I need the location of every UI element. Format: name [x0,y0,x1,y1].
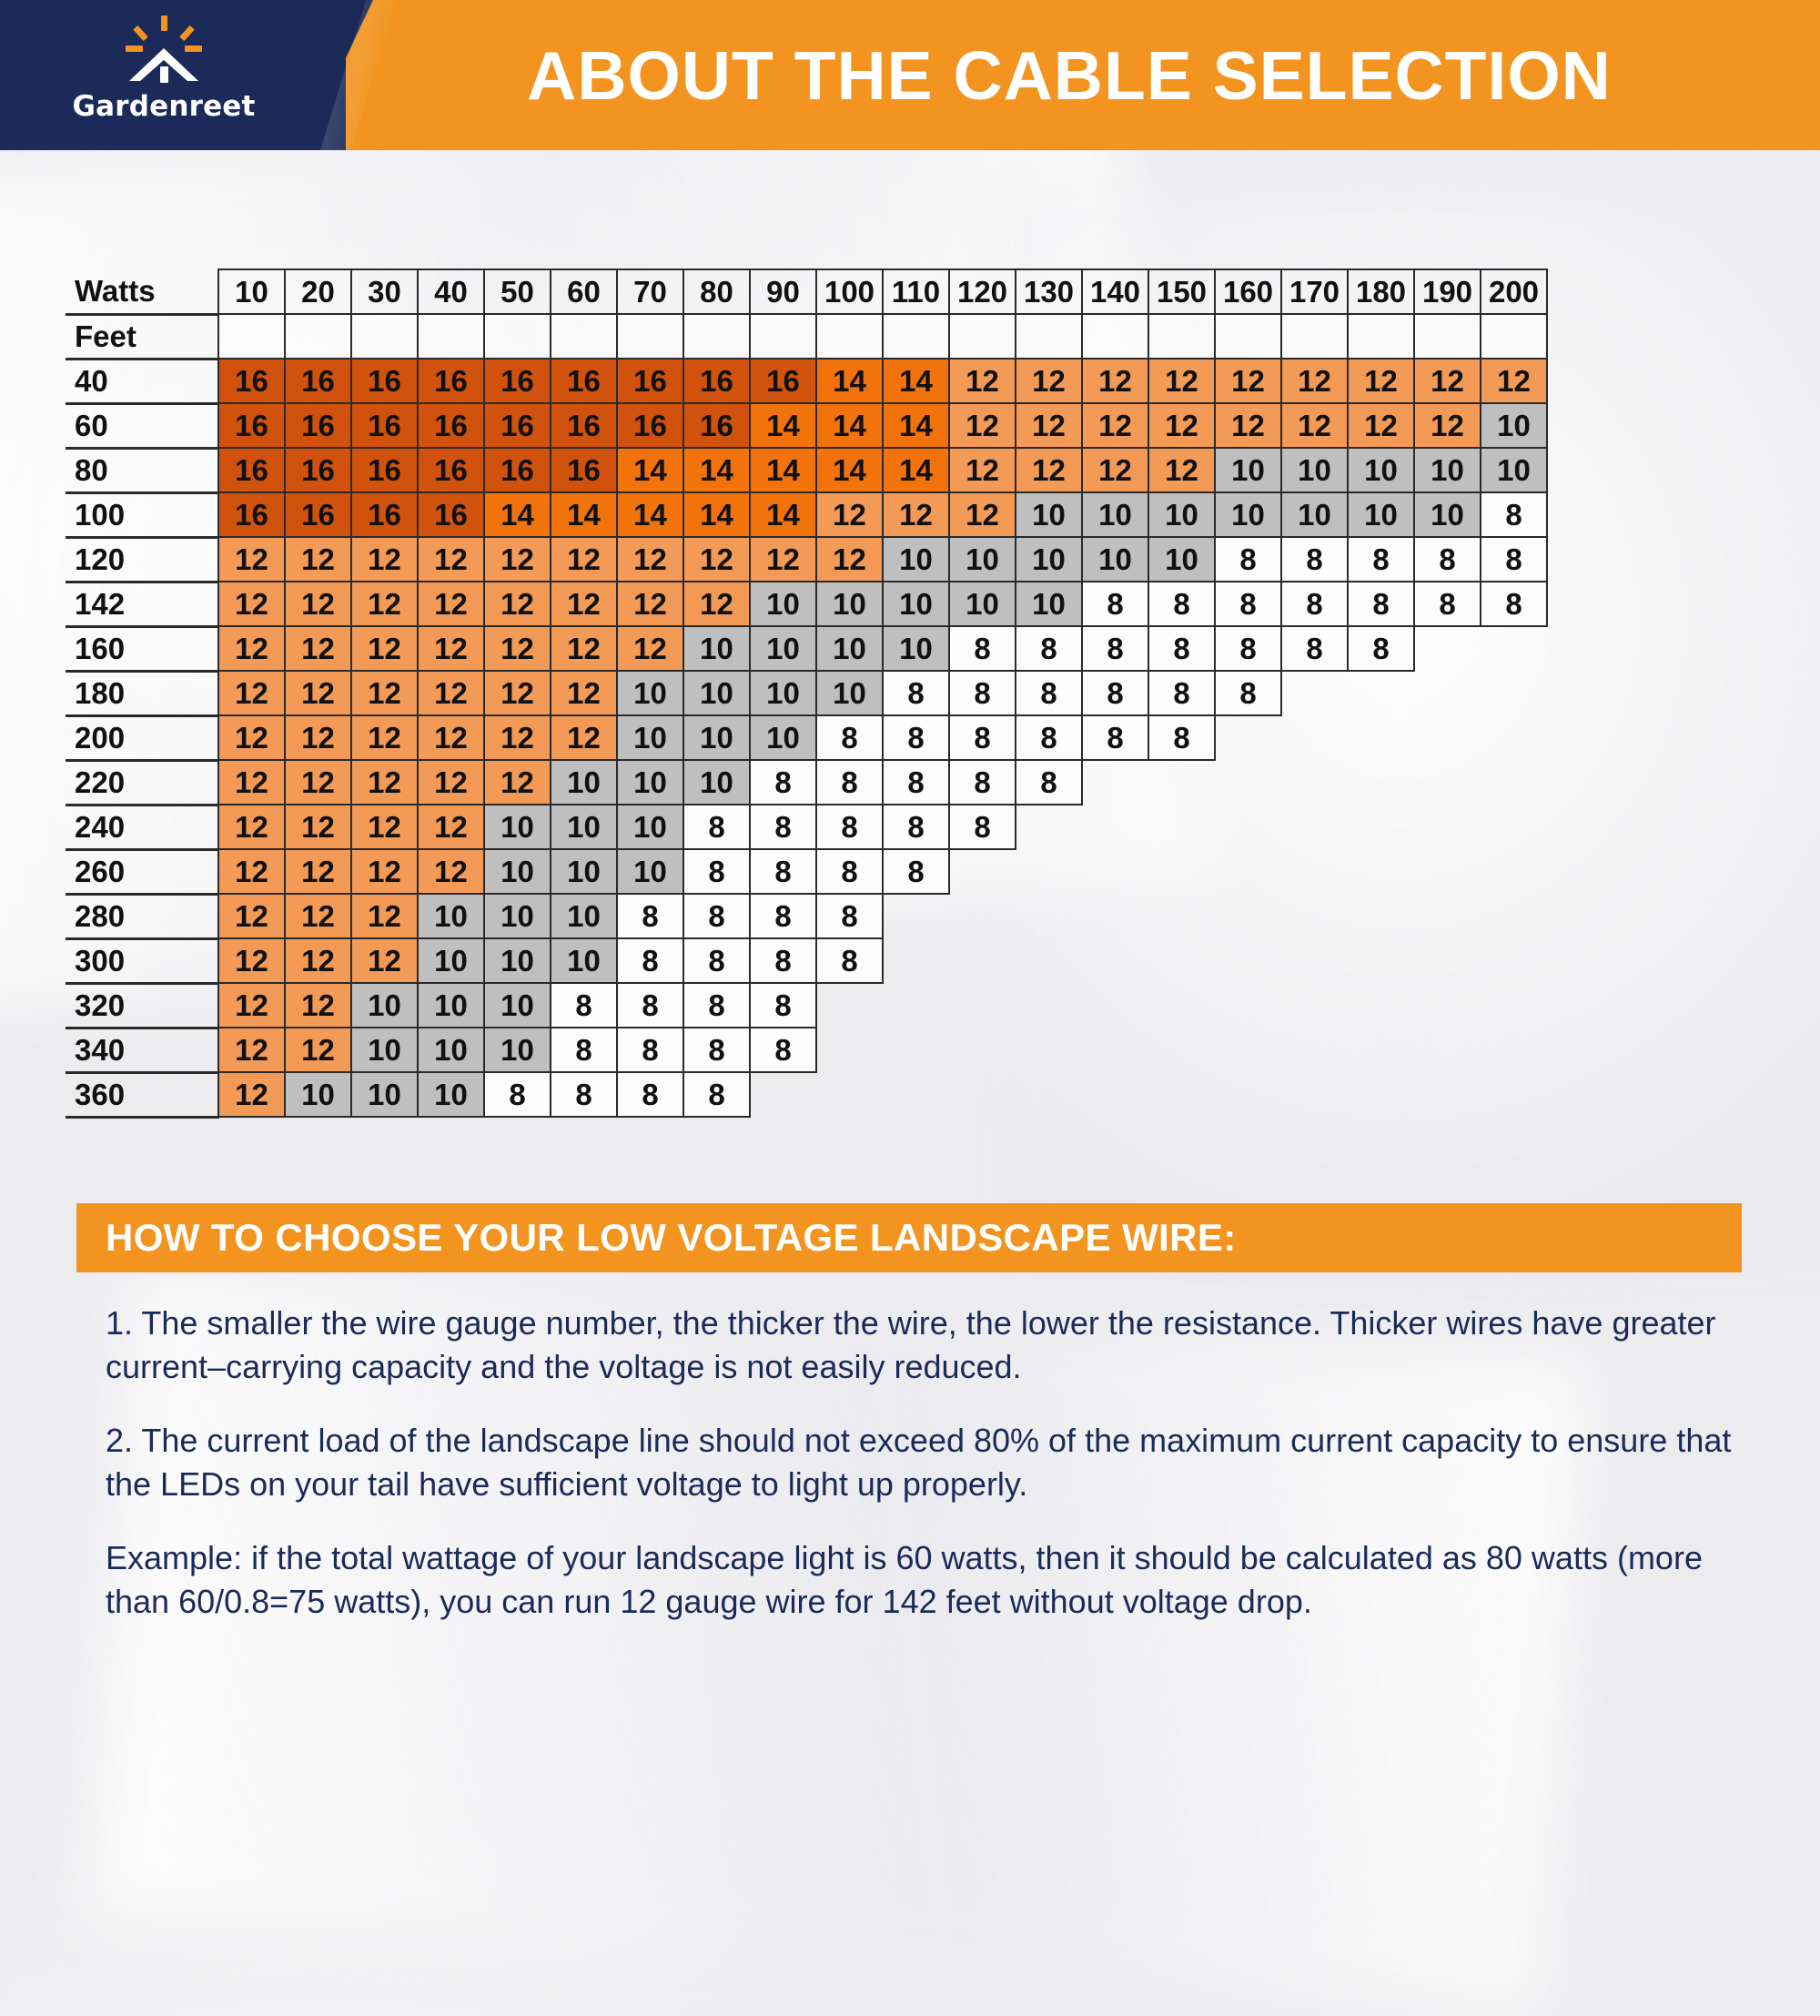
feet-label-row: Feet [66,314,1547,359]
gauge-cell: 8 [683,849,750,894]
gauge-cell: 8 [683,805,750,849]
empty-cell [1215,760,1281,805]
row-header-feet-120: 120 [66,537,218,582]
gauge-cell: 12 [816,537,883,582]
gauge-cell: 8 [683,983,750,1028]
gauge-cell: 14 [816,403,883,448]
gauge-cell: 8 [617,938,683,983]
gauge-cell: 12 [218,715,285,760]
empty-cell [1082,983,1148,1028]
brand-name: Gardenreet [72,90,255,123]
blank-cell [883,314,949,359]
gauge-cell: 10 [285,1072,351,1117]
empty-cell [1148,894,1215,938]
gauge-cell: 16 [484,448,551,492]
gauge-cell: 8 [1016,760,1082,805]
gauge-cell: 10 [351,983,418,1028]
table-row: 360121010108888 [66,1072,1547,1117]
empty-cell [1348,805,1414,849]
table-row: 32012121010108888 [66,983,1547,1028]
gauge-cell: 10 [683,626,750,671]
gauge-cell: 12 [1481,359,1547,403]
page-title: ABOUT THE CABLE SELECTION [346,0,1820,150]
row-header-feet-200: 200 [66,715,218,760]
gauge-cell: 10 [551,760,617,805]
empty-cell [1481,1028,1547,1072]
gauge-cell: 8 [683,894,750,938]
row-header-feet-340: 340 [66,1028,218,1072]
gauge-cell: 12 [683,537,750,582]
empty-cell [1414,849,1481,894]
empty-cell [1414,1072,1481,1117]
empty-cell [1281,894,1348,938]
cable-selection-table-wrap: Watts 1020304050607080901001101201301401… [66,268,1758,1119]
gauge-cell: 8 [617,1072,683,1117]
gauge-cell: 12 [1082,448,1148,492]
empty-cell [883,983,949,1028]
empty-cell [1016,983,1082,1028]
row-header-feet-40: 40 [66,359,218,403]
gauge-cell: 10 [683,760,750,805]
empty-cell [883,938,949,983]
gauge-cell: 10 [1481,448,1547,492]
gauge-cell: 10 [1215,448,1281,492]
gauge-cell: 12 [1281,403,1348,448]
gauge-cell: 8 [1215,537,1281,582]
gauge-cell: 12 [285,983,351,1028]
gauge-cell: 12 [1348,403,1414,448]
empty-cell [1148,805,1215,849]
gauge-cell: 14 [883,403,949,448]
empty-cell [1215,1072,1281,1117]
gauge-cell: 8 [551,983,617,1028]
gauge-cell: 10 [1082,492,1148,537]
gauge-cell: 8 [816,849,883,894]
table-body: Feet 40161616161616161616141412121212121… [66,314,1547,1117]
gauge-cell: 10 [617,671,683,715]
gauge-cell: 10 [617,849,683,894]
gauge-cell: 8 [1414,537,1481,582]
gauge-cell: 8 [683,938,750,983]
gauge-cell: 12 [551,582,617,626]
empty-cell [1481,1072,1547,1117]
gauge-cell: 12 [218,849,285,894]
gauge-cell: 8 [816,938,883,983]
gauge-cell: 14 [750,448,816,492]
row-header-feet-160: 160 [66,626,218,671]
empty-cell [1281,1072,1348,1117]
blank-cell [285,314,351,359]
gauge-cell: 12 [484,715,551,760]
blank-cell [1016,314,1082,359]
gauge-cell: 16 [351,492,418,537]
gauge-cell: 10 [1281,448,1348,492]
gauge-cell: 10 [418,1028,484,1072]
gauge-cell: 12 [218,894,285,938]
gauge-cell: 10 [1348,492,1414,537]
gauge-cell: 12 [218,671,285,715]
gauge-cell: 12 [285,1028,351,1072]
blank-cell [551,314,617,359]
gauge-cell: 12 [285,849,351,894]
gauge-cell: 12 [285,894,351,938]
gauge-cell: 12 [1016,359,1082,403]
gauge-cell: 12 [218,537,285,582]
column-header-watts-120: 120 [949,269,1016,314]
gauge-cell: 8 [949,715,1016,760]
empty-cell [1481,983,1547,1028]
gauge-cell: 12 [285,582,351,626]
table-row: 12012121212121212121212101010101088888 [66,537,1547,582]
gauge-cell: 12 [1016,403,1082,448]
gauge-cell: 12 [218,760,285,805]
empty-cell [1281,849,1348,894]
gauge-cell: 12 [285,626,351,671]
empty-cell [1481,760,1547,805]
gauge-cell: 16 [218,492,285,537]
gauge-cell: 12 [218,626,285,671]
empty-cell [949,1072,1016,1117]
column-header-watts-190: 190 [1414,269,1481,314]
gauge-cell: 10 [617,805,683,849]
table-row: 16012121212121212101010108888888 [66,626,1547,671]
gauge-cell: 8 [883,715,949,760]
table-row: 3001212121010108888 [66,938,1547,983]
empty-cell [1414,805,1481,849]
table-row: 2801212121010108888 [66,894,1547,938]
gauge-cell: 8 [1082,671,1148,715]
gauge-cell: 12 [418,537,484,582]
gauge-cell: 10 [484,1028,551,1072]
gauge-cell: 10 [484,894,551,938]
gauge-cell: 8 [1481,492,1547,537]
gauge-cell: 16 [617,359,683,403]
gauge-cell: 8 [1148,582,1215,626]
gauge-cell: 10 [1148,537,1215,582]
empty-cell [1215,715,1281,760]
column-header-watts-10: 10 [218,269,285,314]
gauge-cell: 16 [285,359,351,403]
gauge-cell: 12 [617,626,683,671]
table-row: 260121212121010108888 [66,849,1547,894]
gauge-cell: 8 [949,626,1016,671]
blank-cell [1082,314,1148,359]
gauge-cell: 8 [816,894,883,938]
column-header-watts-130: 130 [1016,269,1082,314]
empty-cell [1148,983,1215,1028]
gauge-cell: 16 [750,359,816,403]
row-header-feet-100: 100 [66,492,218,537]
gauge-cell: 10 [750,582,816,626]
gauge-cell: 12 [484,626,551,671]
gauge-cell: 16 [351,359,418,403]
empty-cell [1348,849,1414,894]
gauge-cell: 10 [484,983,551,1028]
note-3: Example: if the total wattage of your la… [106,1536,1734,1623]
empty-cell [1016,805,1082,849]
empty-cell [1215,805,1281,849]
blank-cell [816,314,883,359]
gauge-cell: 8 [1148,626,1215,671]
blank-cell [1348,314,1414,359]
gauge-cell: 12 [285,938,351,983]
gauge-cell: 12 [351,894,418,938]
gauge-cell: 10 [883,537,949,582]
empty-cell [1281,1028,1348,1072]
blank-cell [1414,314,1481,359]
gauge-cell: 14 [816,448,883,492]
gauge-cell: 16 [285,403,351,448]
gauge-cell: 16 [683,403,750,448]
row-header-feet-360: 360 [66,1072,218,1117]
empty-cell [1215,849,1281,894]
empty-cell [1082,1072,1148,1117]
empty-cell [1148,1072,1215,1117]
gauge-cell: 10 [1016,582,1082,626]
empty-cell [1414,626,1481,671]
gauge-cell: 8 [949,760,1016,805]
gauge-cell: 12 [351,805,418,849]
gauge-cell: 8 [617,983,683,1028]
gauge-cell: 8 [1215,582,1281,626]
gauge-cell: 12 [1016,448,1082,492]
gauge-cell: 14 [617,448,683,492]
gauge-cell: 8 [883,805,949,849]
gauge-cell: 8 [617,894,683,938]
gauge-cell: 12 [218,805,285,849]
empty-cell [1481,626,1547,671]
empty-cell [1348,671,1414,715]
gauge-cell: 10 [1016,492,1082,537]
gauge-cell: 12 [418,626,484,671]
empty-cell [1016,894,1082,938]
gauge-cell: 10 [816,626,883,671]
gauge-cell: 12 [1414,359,1481,403]
gauge-cell: 12 [484,537,551,582]
gauge-cell: 8 [1148,715,1215,760]
gauge-cell: 10 [1215,492,1281,537]
gauge-cell: 8 [816,805,883,849]
empty-cell [1414,760,1481,805]
empty-cell [816,1072,883,1117]
row-header-feet-220: 220 [66,760,218,805]
empty-cell [1148,760,1215,805]
gauge-cell: 16 [285,492,351,537]
gauge-cell: 8 [1281,582,1348,626]
gauge-cell: 12 [218,983,285,1028]
empty-cell [1281,983,1348,1028]
gauge-cell: 12 [418,715,484,760]
gauge-cell: 8 [883,671,949,715]
gauge-cell: 12 [418,849,484,894]
gauge-cell: 10 [551,938,617,983]
empty-cell [1481,715,1547,760]
gauge-cell: 12 [1281,359,1348,403]
gauge-cell: 12 [285,805,351,849]
note-1: 1. The smaller the wire gauge number, th… [106,1302,1734,1388]
column-header-watts-40: 40 [418,269,484,314]
empty-cell [1281,938,1348,983]
empty-cell [1215,1028,1281,1072]
blank-cell [351,314,418,359]
gauge-cell: 16 [418,448,484,492]
gauge-cell: 8 [883,760,949,805]
note-2: 2. The current load of the landscape lin… [106,1419,1734,1505]
gauge-cell: 12 [351,715,418,760]
gauge-cell: 8 [750,1028,816,1072]
empty-cell [1481,805,1547,849]
empty-cell [1414,983,1481,1028]
table-row: 142121212121212121210101010108888888 [66,582,1547,626]
row-header-feet-320: 320 [66,983,218,1028]
blank-cell [949,314,1016,359]
gauge-cell: 10 [418,894,484,938]
empty-cell [1481,671,1547,715]
gauge-cell: 12 [949,403,1016,448]
how-to-choose-banner: HOW TO CHOOSE YOUR LOW VOLTAGE LANDSCAPE… [76,1203,1742,1272]
gauge-cell: 8 [683,1072,750,1117]
gauge-cell: 8 [617,1028,683,1072]
table-row: 34012121010108888 [66,1028,1547,1072]
empty-cell [883,1028,949,1072]
gauge-cell: 10 [484,849,551,894]
gauge-cell: 12 [1414,403,1481,448]
blank-cell [218,314,285,359]
gauge-cell: 12 [351,537,418,582]
gauge-cell: 12 [351,849,418,894]
empty-cell [1215,983,1281,1028]
column-header-watts-180: 180 [1348,269,1414,314]
gauge-cell: 10 [750,626,816,671]
empty-cell [1016,938,1082,983]
empty-cell [1148,938,1215,983]
gauge-cell: 12 [949,359,1016,403]
empty-cell [1215,894,1281,938]
gauge-cell: 8 [1016,715,1082,760]
gauge-cell: 8 [949,805,1016,849]
gauge-cell: 10 [1414,492,1481,537]
gauge-cell: 12 [551,715,617,760]
gauge-cell: 16 [285,448,351,492]
gauge-cell: 12 [418,582,484,626]
gauge-cell: 10 [617,760,683,805]
gauge-cell: 10 [351,1028,418,1072]
gauge-cell: 8 [1281,626,1348,671]
empty-cell [816,983,883,1028]
row-header-feet-260: 260 [66,849,218,894]
gauge-cell: 14 [551,492,617,537]
table-row: 220121212121210101088888 [66,760,1547,805]
column-header-watts-80: 80 [683,269,750,314]
gauge-cell: 8 [1348,626,1414,671]
gauge-cell: 12 [351,760,418,805]
gauge-cell: 14 [750,492,816,537]
gauge-cell: 12 [1082,403,1148,448]
gauge-cell: 12 [351,938,418,983]
empty-cell [1414,1028,1481,1072]
gauge-cell: 8 [1082,715,1148,760]
gauge-cell: 8 [816,715,883,760]
gauge-cell: 12 [418,805,484,849]
blank-cell [484,314,551,359]
gauge-cell: 12 [1348,359,1414,403]
empty-cell [949,1028,1016,1072]
table-header-row: Watts 1020304050607080901001101201301401… [66,269,1547,314]
empty-cell [750,1072,816,1117]
empty-cell [1348,1028,1414,1072]
empty-cell [883,894,949,938]
gauge-cell: 16 [551,448,617,492]
row-header-feet-280: 280 [66,894,218,938]
empty-cell [1215,938,1281,983]
empty-cell [1281,715,1348,760]
row-header-label-feet: Feet [66,314,218,359]
gauge-cell: 14 [617,492,683,537]
gauge-cell: 10 [1148,492,1215,537]
gauge-cell: 8 [1215,671,1281,715]
gauge-cell: 14 [816,359,883,403]
blank-cell [1215,314,1281,359]
gauge-cell: 8 [1016,671,1082,715]
empty-cell [1082,894,1148,938]
gauge-cell: 12 [816,492,883,537]
gauge-cell: 12 [617,537,683,582]
column-header-watts-150: 150 [1148,269,1215,314]
column-header-watts-30: 30 [351,269,418,314]
table-row: 2401212121210101088888 [66,805,1547,849]
gauge-cell: 16 [351,448,418,492]
gauge-cell: 14 [683,448,750,492]
gauge-cell: 12 [551,626,617,671]
gauge-cell: 12 [285,760,351,805]
gauge-cell: 10 [1481,403,1547,448]
column-header-watts-110: 110 [883,269,949,314]
empty-cell [1148,1028,1215,1072]
blank-cell [1148,314,1215,359]
empty-cell [1148,849,1215,894]
gauge-cell: 8 [750,983,816,1028]
gauge-cell: 10 [551,894,617,938]
gauge-cell: 10 [883,582,949,626]
notes-section: 1. The smaller the wire gauge number, th… [106,1302,1734,1654]
gauge-cell: 16 [551,359,617,403]
gauge-cell: 12 [1148,448,1215,492]
gauge-cell: 12 [1148,403,1215,448]
column-header-watts-200: 200 [1481,269,1547,314]
gauge-cell: 16 [484,403,551,448]
column-header-watts-140: 140 [1082,269,1148,314]
gauge-cell: 12 [218,938,285,983]
gauge-cell: 12 [285,715,351,760]
table-row: 18012121212121210101010888888 [66,671,1547,715]
gauge-cell: 12 [351,582,418,626]
gauge-cell: 16 [418,359,484,403]
gauge-cell: 12 [1148,359,1215,403]
gauge-cell: 12 [949,492,1016,537]
gauge-cell: 12 [418,760,484,805]
row-header-feet-300: 300 [66,938,218,983]
empty-cell [1281,671,1348,715]
empty-cell [1414,715,1481,760]
column-header-watts-160: 160 [1215,269,1281,314]
empty-cell [1348,894,1414,938]
gauge-cell: 8 [1016,626,1082,671]
gauge-cell: 8 [1481,582,1547,626]
empty-cell [1082,938,1148,983]
gauge-cell: 16 [218,448,285,492]
gauge-cell: 12 [484,671,551,715]
empty-cell [1481,849,1547,894]
